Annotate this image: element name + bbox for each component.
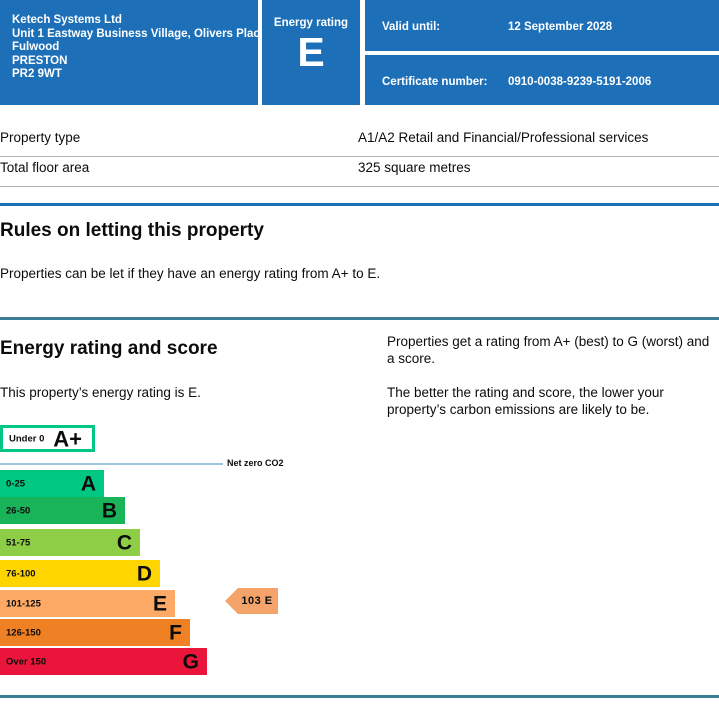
energy-rating-explainer: Properties get a rating from A+ (best) t…	[387, 333, 719, 435]
band-e: 101-125 E	[0, 590, 175, 617]
property-type-label: Property type	[0, 130, 80, 145]
table-row: Property type A1/A2 Retail and Financial…	[0, 127, 719, 157]
section-divider-letting	[0, 203, 719, 206]
band-a-plus: Under 0 A+	[0, 425, 95, 452]
address-line-3: Fulwood	[12, 41, 248, 55]
current-score-marker: 103 E	[225, 588, 278, 614]
band-e-letter: E	[153, 593, 167, 614]
explainer-paragraph-2: The better the rating and score, the low…	[387, 384, 719, 418]
band-g-letter: G	[183, 651, 199, 672]
table-row: Total floor area 325 square metres	[0, 157, 719, 187]
band-d-range: 76-100	[6, 568, 36, 579]
band-f-range: 126-150	[6, 627, 41, 638]
property-type-value: A1/A2 Retail and Financial/Professional …	[358, 130, 648, 145]
band-g: Over 150 G	[0, 648, 207, 675]
band-c-letter: C	[117, 532, 132, 553]
energy-rating-badge: Energy rating E	[262, 0, 360, 105]
energy-rating-heading: Energy rating and score	[0, 338, 218, 360]
band-d-letter: D	[137, 563, 152, 584]
band-e-range: 101-125	[6, 598, 41, 609]
valid-until-value: 12 September 2028	[508, 21, 612, 33]
band-c-range: 51-75	[6, 537, 30, 548]
address-line-4: PRESTON	[12, 55, 248, 69]
band-a-plus-range: Under 0	[9, 433, 44, 444]
address-line-5: PR2 9WT	[12, 68, 248, 82]
band-a-plus-letter: A+	[53, 428, 82, 449]
band-a-letter: A	[81, 473, 96, 494]
footer-divider	[0, 695, 719, 698]
band-f-letter: F	[169, 622, 182, 643]
net-zero-line	[0, 463, 223, 465]
energy-rating-subtitle: This property’s energy rating is E.	[0, 385, 201, 400]
property-details-table: Property type A1/A2 Retail and Financial…	[0, 127, 719, 187]
current-score-text: 103 E	[241, 595, 272, 607]
valid-until-row: Valid until: 12 September 2028	[365, 0, 719, 51]
total-floor-area-value: 325 square metres	[358, 160, 471, 175]
energy-rating-label: Energy rating	[262, 17, 360, 29]
address-line-1: Ketech Systems Ltd	[12, 14, 248, 28]
band-g-range: Over 150	[6, 656, 46, 667]
band-f: 126-150 F	[0, 619, 190, 646]
epc-band-chart: Under 0 A+ Net zero CO2 0-25 A 26-50 B 5…	[0, 425, 300, 675]
address-line-2: Unit 1 Eastway Business Village, Olivers…	[12, 28, 248, 42]
total-floor-area-label: Total floor area	[0, 160, 89, 175]
certificate-header: Ketech Systems Ltd Unit 1 Eastway Busine…	[0, 0, 719, 105]
band-a-range: 0-25	[6, 478, 25, 489]
energy-rating-letter: E	[262, 30, 360, 74]
band-b-range: 26-50	[6, 505, 30, 516]
certificate-number-label: Certificate number:	[382, 76, 487, 88]
net-zero-label: Net zero CO2	[227, 458, 284, 468]
certificate-number-value: 0910-0038-9239-5191-2006	[508, 76, 651, 88]
explainer-paragraph-1: Properties get a rating from A+ (best) t…	[387, 333, 719, 367]
letting-rules-heading: Rules on letting this property	[0, 220, 264, 242]
band-c: 51-75 C	[0, 529, 140, 556]
band-a: 0-25 A	[0, 470, 104, 497]
property-address-block: Ketech Systems Ltd Unit 1 Eastway Busine…	[0, 0, 258, 105]
band-b-letter: B	[102, 500, 117, 521]
band-d: 76-100 D	[0, 560, 160, 587]
band-b: 26-50 B	[0, 497, 125, 524]
section-divider-energy-rating	[0, 317, 719, 320]
valid-until-label: Valid until:	[382, 21, 440, 33]
certificate-meta-block: Valid until: 12 September 2028 Certifica…	[365, 0, 719, 105]
letting-rules-body: Properties can be let if they have an en…	[0, 266, 380, 281]
certificate-number-row: Certificate number: 0910-0038-9239-5191-…	[365, 55, 719, 105]
